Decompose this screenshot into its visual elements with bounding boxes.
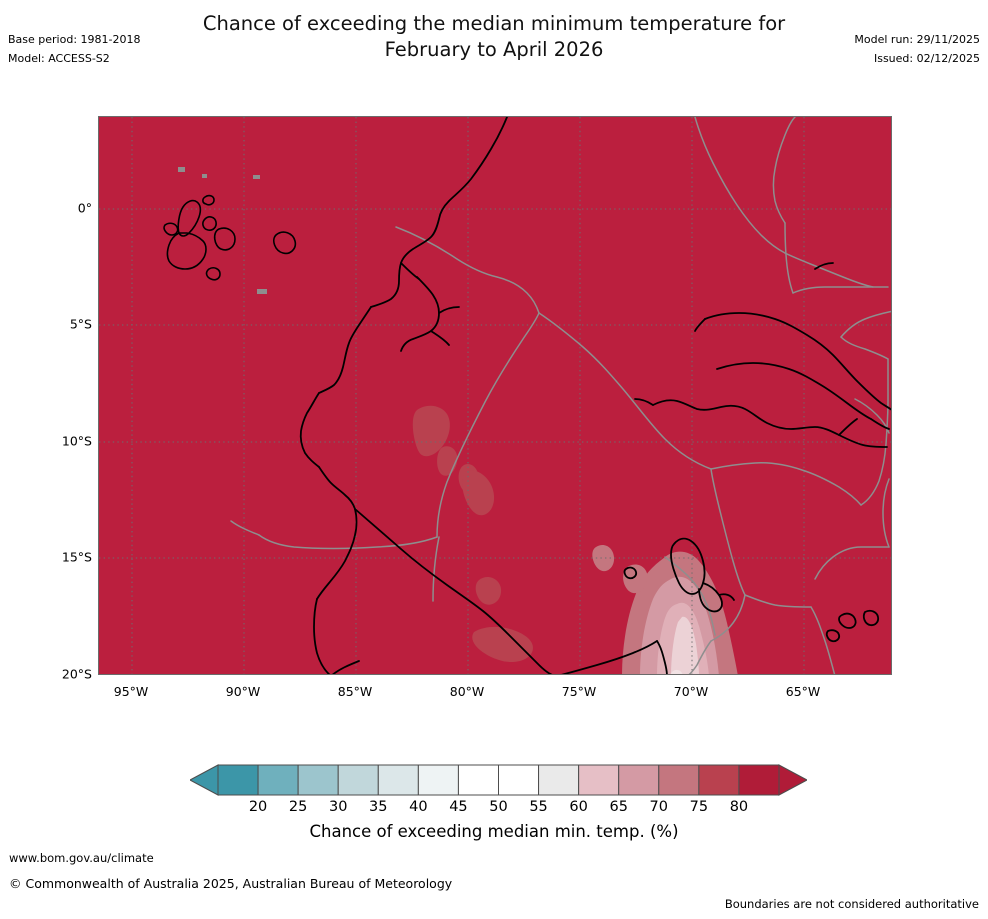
colorbar-axis-label: Chance of exceeding median min. temp. (%… xyxy=(0,822,988,841)
colorbar-cell xyxy=(458,765,498,795)
header-right-metadata: Model run: 29/11/2025 Issued: 02/12/2025 xyxy=(854,30,980,68)
colorbar-cell xyxy=(218,765,258,795)
colorbar-cell xyxy=(258,765,298,795)
colorbar-tick-70: 70 xyxy=(650,799,668,815)
map-xtick-80w: 80°W xyxy=(450,684,485,699)
colorbar-tick-50: 50 xyxy=(489,799,507,815)
map-xtick-75w: 75°W xyxy=(562,684,597,699)
map-ytick-10s: 10°S xyxy=(62,434,92,449)
title-line-1: Chance of exceeding the median minimum t… xyxy=(0,11,988,37)
colorbar-cell xyxy=(539,765,579,795)
issued-text: Issued: 02/12/2025 xyxy=(854,49,980,68)
colorbar-cell xyxy=(579,765,619,795)
map-plot-area xyxy=(98,116,892,675)
colorbar-cell xyxy=(699,765,739,795)
coastline xyxy=(301,117,892,675)
map-xtick-70w: 70°W xyxy=(674,684,709,699)
colorbar-cell xyxy=(739,765,779,795)
colorbar-cell xyxy=(298,765,338,795)
colorbar-tick-35: 35 xyxy=(369,799,387,815)
colorbar-tick-20: 20 xyxy=(249,799,267,815)
colorbar-swatches xyxy=(190,763,807,797)
colorbar-cell xyxy=(338,765,378,795)
colorbar-tick-30: 30 xyxy=(329,799,347,815)
title-line-2: February to April 2026 xyxy=(0,37,988,63)
colorbar-tick-65: 65 xyxy=(609,799,627,815)
footer-copyright: © Commonwealth of Australia 2025, Austra… xyxy=(9,876,452,891)
galapagos-islands xyxy=(164,196,295,280)
colorbar-tick-25: 25 xyxy=(289,799,307,815)
footer-website-url[interactable]: www.bom.gov.au/climate xyxy=(9,851,154,865)
colorbar-tick-40: 40 xyxy=(409,799,427,815)
map-xtick-90w: 90°W xyxy=(226,684,261,699)
map-xtick-95w: 95°W xyxy=(114,684,149,699)
colorbar-tick-60: 60 xyxy=(569,799,587,815)
colorbar-cell xyxy=(499,765,539,795)
colorbar-tick-75: 75 xyxy=(690,799,708,815)
colorbar-cell xyxy=(659,765,699,795)
colorbar-extend-high xyxy=(779,765,807,795)
map-ytick-20s: 20°S xyxy=(62,667,92,682)
colorbar-cell xyxy=(619,765,659,795)
map-ytick-15s: 15°S xyxy=(62,550,92,565)
country-borders xyxy=(231,117,892,675)
contour-band-75-80 xyxy=(413,406,533,662)
page-title: Chance of exceeding the median minimum t… xyxy=(0,11,988,63)
map-xtick-65w: 65°W xyxy=(786,684,821,699)
colorbar-cell xyxy=(378,765,418,795)
forecast-map: 0° 5°S 10°S 15°S 20°S 95°W 90°W 85°W 80°… xyxy=(98,116,892,675)
colorbar-cell xyxy=(418,765,458,795)
map-ytick-0: 0° xyxy=(78,201,92,216)
colorbar-tick-80: 80 xyxy=(730,799,748,815)
colorbar-extend-low xyxy=(190,765,218,795)
map-canvas xyxy=(99,117,892,675)
colorbar-tick-45: 45 xyxy=(449,799,467,815)
footer-boundary-note: Boundaries are not considered authoritat… xyxy=(725,897,979,911)
map-xtick-85w: 85°W xyxy=(338,684,373,699)
colorbar: 20253035404550556065707580 xyxy=(190,763,807,797)
colorbar-tick-55: 55 xyxy=(529,799,547,815)
model-run-text: Model run: 29/11/2025 xyxy=(854,30,980,49)
map-ytick-5s: 5°S xyxy=(70,317,92,332)
